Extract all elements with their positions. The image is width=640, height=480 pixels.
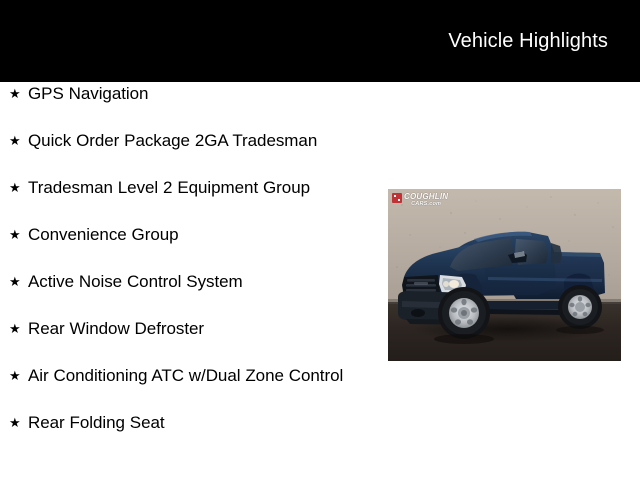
- watermark-brand-name: COUGHLIN: [404, 192, 448, 201]
- page-title: Vehicle Highlights: [448, 29, 608, 53]
- highlight-item-label: Active Noise Control System: [28, 270, 366, 293]
- star-bullet-icon: ★: [9, 223, 23, 246]
- highlight-item-label: Air Conditioning ATC w/Dual Zone Control: [28, 364, 366, 387]
- star-bullet-icon: ★: [9, 364, 23, 387]
- header-band: Vehicle Highlights: [0, 0, 640, 82]
- highlight-item: ★GPS Navigation: [0, 82, 380, 129]
- star-bullet-icon: ★: [9, 317, 23, 340]
- vehicle-highlights-list: ★GPS Navigation★Quick Order Package 2GA …: [0, 82, 380, 458]
- star-bullet-icon: ★: [9, 411, 23, 434]
- star-bullet-icon: ★: [9, 129, 23, 152]
- highlight-item: ★Convenience Group: [0, 223, 380, 270]
- highlight-item-label: Convenience Group: [28, 223, 366, 246]
- vehicle-highlights-page: Vehicle Highlights ★GPS Navigation★Quick…: [0, 0, 640, 480]
- watermark-domain: CARS.com: [404, 201, 448, 208]
- star-bullet-icon: ★: [9, 176, 23, 199]
- highlight-item: ★Rear Folding Seat: [0, 411, 380, 458]
- coughlin-logo-icon: [392, 193, 402, 203]
- highlight-item: ★Air Conditioning ATC w/Dual Zone Contro…: [0, 364, 380, 411]
- star-bullet-icon: ★: [9, 270, 23, 293]
- photo-watermark: COUGHLIN CARS.com: [392, 192, 448, 208]
- highlight-item: ★Tradesman Level 2 Equipment Group: [0, 176, 380, 223]
- vehicle-photo-image: [388, 189, 621, 361]
- highlight-item-label: Rear Window Defroster: [28, 317, 366, 340]
- watermark-text: COUGHLIN CARS.com: [404, 192, 448, 208]
- vehicle-photo: COUGHLIN CARS.com: [388, 189, 621, 361]
- highlight-item-label: Quick Order Package 2GA Tradesman: [28, 129, 366, 152]
- highlight-item: ★Quick Order Package 2GA Tradesman: [0, 129, 380, 176]
- star-bullet-icon: ★: [9, 82, 23, 105]
- highlight-item: ★Active Noise Control System: [0, 270, 380, 317]
- highlight-item-label: Rear Folding Seat: [28, 411, 366, 434]
- highlight-item-label: GPS Navigation: [28, 82, 366, 105]
- highlight-item: ★Rear Window Defroster: [0, 317, 380, 364]
- highlight-item-label: Tradesman Level 2 Equipment Group: [28, 176, 366, 199]
